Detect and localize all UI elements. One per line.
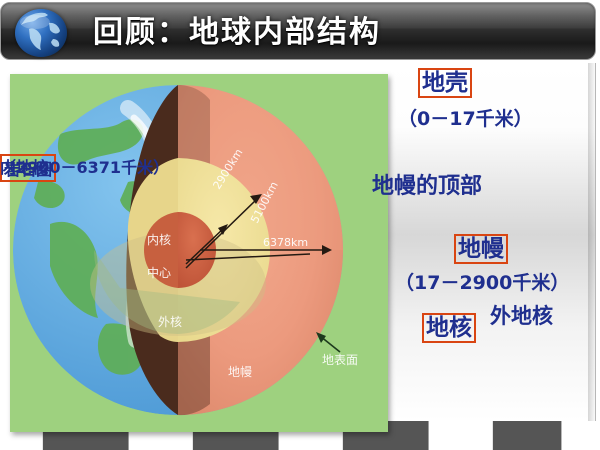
diagram-inner-core-label: 内核 [147,233,171,247]
diagram-outer-core-label: 外核 [158,315,182,329]
diagram-mantle-label: 地幔 [228,364,252,379]
earth-structure-diagram: 2900km 5100km 6378km 内核 中心 外核 地幔 地表面 [10,74,388,432]
label-outer-core: 外地核 [490,300,553,330]
diagram-surface-label: 地表面 [322,353,358,367]
label-crust: 地壳 [418,68,472,98]
label-crust-range: （0－17千米） [398,104,533,131]
panel-edge-shadow [588,63,596,421]
label-core: 地核 [422,313,476,343]
globe-icon [15,9,67,57]
slide: 回顾：地球内部结构 [0,0,600,450]
slide-title-bar: 回顾：地球内部结构 [0,2,596,60]
label-core-range: （2900－6371千米） [0,154,169,178]
page-title: 回顾：地球内部结构 [93,7,381,59]
label-mantle: 地幔 [454,234,508,264]
diagram-radius-label: 6378km [263,236,308,249]
label-mantle-range: （17－2900千米） [395,268,569,295]
label-mantle-top: 地幔的顶部 [372,168,482,200]
diagram-center-label: 中心 [147,265,171,280]
